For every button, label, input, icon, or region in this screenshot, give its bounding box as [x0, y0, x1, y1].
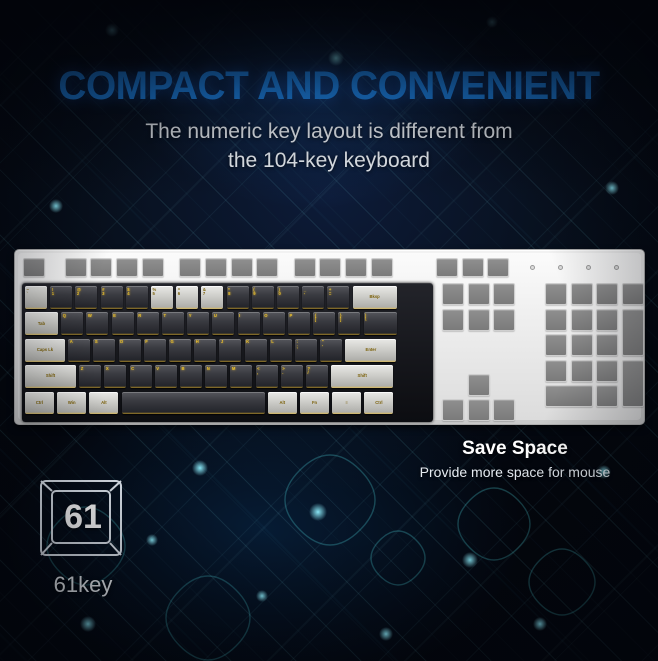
- key-6: ^ 6: [176, 286, 198, 309]
- ghost-key-f11: [345, 258, 367, 277]
- key-capslk: Caps Lk: [25, 339, 65, 362]
- key-d: D: [119, 339, 141, 362]
- key-b: B: [180, 365, 202, 388]
- key-1: ! 1: [50, 286, 72, 309]
- ghost-key-f4: [142, 258, 164, 277]
- key-backlight-glow: [205, 386, 227, 388]
- key-4: $ 4: [126, 286, 148, 309]
- ghost-key-f12: [371, 258, 393, 277]
- key-backlight-glow: [219, 360, 241, 362]
- key-e: E: [112, 312, 134, 335]
- key-c: C: [130, 365, 152, 388]
- key-w: W: [86, 312, 108, 335]
- key-ctrl: Ctrl: [25, 392, 54, 415]
- key-x: X: [104, 365, 126, 388]
- led-indicator-2: [558, 265, 563, 270]
- key-v: V: [155, 365, 177, 388]
- key-backlight-glow: [79, 386, 101, 388]
- ghost-numpad-enter: [622, 360, 644, 408]
- key-backlight-glow: [101, 307, 123, 309]
- ghost-key-arrow-left: [442, 399, 464, 421]
- ghost-numpad-*: [596, 283, 618, 305]
- ghost-numpad-9: [596, 309, 618, 331]
- key-backlight-glow: [227, 307, 249, 309]
- key-backlight-glow: [256, 386, 278, 388]
- key-backlight-glow: [61, 333, 83, 335]
- key-space: " ': [320, 339, 342, 362]
- key-z: Z: [79, 365, 101, 388]
- key-backlight-glow: [169, 360, 191, 362]
- ghost-key-f10: [319, 258, 341, 277]
- key-p: P: [288, 312, 310, 335]
- key-space: [122, 392, 265, 415]
- key-space: _ -: [302, 286, 324, 309]
- ghost-key-arrow-up: [468, 374, 490, 396]
- key-s: S: [93, 339, 115, 362]
- key-3: # 3: [101, 286, 123, 309]
- ghost-key-end: [468, 309, 490, 331]
- key-shift: Shift: [25, 365, 76, 388]
- key-a: A: [68, 339, 90, 362]
- key-backlight-glow: [201, 307, 223, 309]
- key-backlight-glow: [364, 333, 397, 335]
- key-backlight-glow: [187, 333, 209, 335]
- key-backlight-glow: [130, 386, 152, 388]
- key-backlight-glow: [306, 386, 328, 388]
- ghost-numpad-5: [571, 334, 593, 356]
- ghost-key-arrow-right: [493, 399, 515, 421]
- ghost-numpad-6: [596, 334, 618, 356]
- ghost-numpad-3: [596, 360, 618, 382]
- ghost-numpad-4: [545, 334, 567, 356]
- key-7: & 7: [201, 286, 223, 309]
- ghost-key-f7: [231, 258, 253, 277]
- key-backlight-glow: [89, 412, 118, 414]
- key-o: O: [263, 312, 285, 335]
- key-backlight-glow: [122, 412, 265, 414]
- key-backlight-glow: [353, 307, 397, 309]
- ghost-numpad--: [622, 283, 644, 305]
- key-space: + =: [327, 286, 349, 309]
- key-backlight-glow: [176, 307, 198, 309]
- keyboard-illustration: ~ `! 1@ 2# 3$ 4% 5^ 6& 7* 8( 9) 0_ -+ =B…: [14, 249, 645, 425]
- key-backlight-glow: [119, 360, 141, 362]
- key-backlight-glow: [144, 360, 166, 362]
- ghost-key-arrow-down: [468, 399, 490, 421]
- key-h: H: [194, 339, 216, 362]
- key-backlight-glow: [252, 307, 274, 309]
- key-backlight-glow: [25, 386, 76, 388]
- key-backlight-glow: [25, 360, 65, 362]
- key-backlight-glow: [137, 333, 159, 335]
- ghost-numpad-/: [571, 283, 593, 305]
- key-n: N: [205, 365, 227, 388]
- keyboard-body: ~ `! 1@ 2# 3$ 4% 5^ 6& 7* 8( 9) 0_ -+ =B…: [14, 249, 645, 425]
- key-t: T: [162, 312, 184, 335]
- page-subtitle: The numeric key layout is different from…: [0, 117, 658, 175]
- key-y: Y: [187, 312, 209, 335]
- key-backlight-glow: [288, 333, 310, 335]
- key-backlight-glow: [112, 333, 134, 335]
- key-tab: Tab: [25, 312, 58, 335]
- key-backlight-glow: [50, 307, 72, 309]
- ghost-key-f8: [256, 258, 278, 277]
- key-backlight-glow: [245, 360, 267, 362]
- key-backlight-glow: [295, 360, 317, 362]
- key-backlight-glow: [270, 360, 292, 362]
- key-space: ? /: [306, 365, 328, 388]
- ghost-key-f3: [116, 258, 138, 277]
- ghost-key-f6: [205, 258, 227, 277]
- key-backlight-glow: [230, 386, 252, 388]
- key-backlight-glow: [263, 333, 285, 335]
- key-space: { [: [313, 312, 335, 335]
- subtitle-line-1: The numeric key layout is different from: [0, 117, 658, 146]
- page-title: COMPACT AND CONVENIENT: [10, 64, 648, 109]
- key-backlight-glow: [313, 333, 335, 335]
- key-backlight-glow: [93, 360, 115, 362]
- key-j: J: [219, 339, 241, 362]
- ghost-numpad-7: [545, 309, 567, 331]
- ghost-numpad-plus: [622, 309, 644, 357]
- ghost-key-pause: [487, 258, 509, 277]
- key-backlight-glow: [212, 333, 234, 335]
- ghost-key-f1: [65, 258, 87, 277]
- led-indicator-1: [530, 265, 535, 270]
- key-m: M: [230, 365, 252, 388]
- key-r: R: [137, 312, 159, 335]
- key-backlight-glow: [162, 333, 184, 335]
- key-backlight-glow: [332, 412, 361, 414]
- key-backlight-glow: [68, 360, 90, 362]
- ghost-numpad-8: [571, 309, 593, 331]
- ghost-key-f2: [90, 258, 112, 277]
- key-backlight-glow: [331, 386, 393, 388]
- key-ctrl: Ctrl: [364, 392, 393, 415]
- ghost-numpad-NumLk: [545, 283, 567, 305]
- key-8: * 8: [227, 286, 249, 309]
- compact-61-key-block: ~ `! 1@ 2# 3$ 4% 5^ 6& 7* 8( 9) 0_ -+ =B…: [22, 283, 433, 422]
- key-space: : ;: [295, 339, 317, 362]
- key-5: % 5: [151, 286, 173, 309]
- ghost-key-f9: [294, 258, 316, 277]
- ghost-key-del: [442, 309, 464, 331]
- ghost-key-esc: [23, 258, 45, 277]
- key-space: | \: [364, 312, 397, 335]
- subtitle-line-2: the 104-key keyboard: [0, 146, 658, 175]
- key-backlight-glow: [364, 412, 393, 414]
- key-0: ) 0: [277, 286, 299, 309]
- ghost-key-prtsc: [436, 258, 458, 277]
- key-backlight-glow: [327, 307, 349, 309]
- key-win: Win: [57, 392, 86, 415]
- ghost-key-pgup: [493, 283, 515, 305]
- ghost-key-home: [468, 283, 490, 305]
- key-u: U: [212, 312, 234, 335]
- key-g: G: [169, 339, 191, 362]
- key-backlight-glow: [126, 307, 148, 309]
- key-space: ≡: [332, 392, 361, 415]
- badge-number: 61: [38, 478, 128, 556]
- ghost-numpad-0: [545, 385, 593, 407]
- keyboard-plate: ~ `! 1@ 2# 3$ 4% 5^ 6& 7* 8( 9) 0_ -+ =B…: [18, 253, 641, 420]
- key-space: < ,: [256, 365, 278, 388]
- ghost-key-pgdn: [493, 309, 515, 331]
- feature-subtitle: Provide more space for mouse: [380, 464, 650, 480]
- ghost-key-scrlk: [462, 258, 484, 277]
- key-9: ( 9: [252, 286, 274, 309]
- key-space: ~ `: [25, 286, 47, 309]
- key-backlight-glow: [194, 360, 216, 362]
- key-2: @ 2: [75, 286, 97, 309]
- key-backlight-glow: [25, 307, 47, 309]
- led-indicator-4: [614, 265, 619, 270]
- ghost-numpad-2: [571, 360, 593, 382]
- key-backlight-glow: [302, 307, 324, 309]
- key-backlight-glow: [345, 360, 396, 362]
- key-enter: Enter: [345, 339, 396, 362]
- key-space: > .: [281, 365, 303, 388]
- key-backlight-glow: [281, 386, 303, 388]
- key-fn: Fn: [300, 392, 329, 415]
- ghost-key-ins: [442, 283, 464, 305]
- key-backlight-glow: [320, 360, 342, 362]
- led-indicator-3: [586, 265, 591, 270]
- key-alt: Alt: [268, 392, 297, 415]
- key-space: } ]: [338, 312, 360, 335]
- promo-banner: COMPACT AND CONVENIENT The numeric key l…: [0, 0, 658, 661]
- key-backlight-glow: [180, 386, 202, 388]
- key-backlight-glow: [338, 333, 360, 335]
- key-backlight-glow: [300, 412, 329, 414]
- key-backlight-glow: [86, 333, 108, 335]
- key-l: L: [270, 339, 292, 362]
- key-backlight-glow: [268, 412, 297, 414]
- keycap-badge: 61: [38, 478, 128, 566]
- key-backlight-glow: [25, 333, 58, 335]
- ghost-key-f5: [179, 258, 201, 277]
- key-backlight-glow: [151, 307, 173, 309]
- key-backlight-glow: [104, 386, 126, 388]
- key-i: I: [238, 312, 260, 335]
- key-backlight-glow: [57, 412, 86, 414]
- key-q: Q: [61, 312, 83, 335]
- badge-label: 61key: [20, 572, 146, 598]
- feature-title: Save Space: [380, 438, 650, 460]
- key-backlight-glow: [277, 307, 299, 309]
- key-k: K: [245, 339, 267, 362]
- key-bksp: Bksp: [353, 286, 397, 309]
- ghost-numpad-1: [545, 360, 567, 382]
- key-backlight-glow: [25, 412, 54, 414]
- key-backlight-glow: [238, 333, 260, 335]
- key-shift: Shift: [331, 365, 393, 388]
- key-backlight-glow: [155, 386, 177, 388]
- key-backlight-glow: [75, 307, 97, 309]
- key-alt: Alt: [89, 392, 118, 415]
- ghost-numpad-dot: [596, 385, 618, 407]
- key-f: F: [144, 339, 166, 362]
